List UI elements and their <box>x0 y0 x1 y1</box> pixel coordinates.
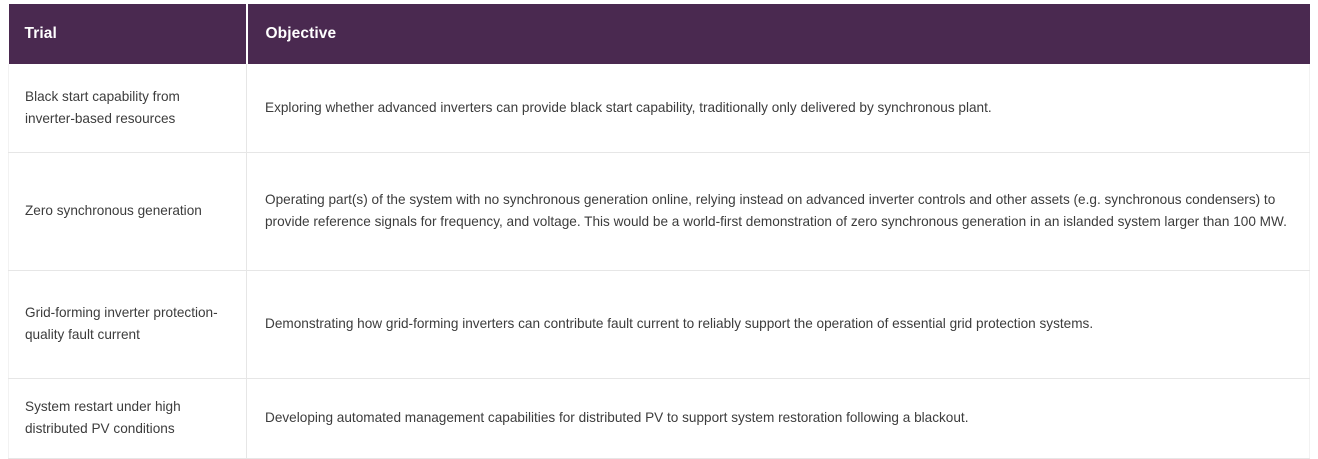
cell-objective: Exploring whether advanced inverters can… <box>247 64 1310 152</box>
trials-table: Trial Objective Black start capability f… <box>8 4 1310 459</box>
table-body: Black start capability from inverter-bas… <box>9 64 1310 458</box>
table-row: Grid-forming inverter protection-quality… <box>9 270 1310 378</box>
cell-objective: Operating part(s) of the system with no … <box>247 152 1310 270</box>
cell-trial: Grid-forming inverter protection-quality… <box>9 270 247 378</box>
cell-trial: Black start capability from inverter-bas… <box>9 64 247 152</box>
cell-trial: Zero synchronous generation <box>9 152 247 270</box>
table-header: Trial Objective <box>9 4 1310 64</box>
column-header-trial: Trial <box>9 4 247 64</box>
cell-objective: Demonstrating how grid-forming inverters… <box>247 270 1310 378</box>
table-row: Zero synchronous generation Operating pa… <box>9 152 1310 270</box>
cell-objective: Developing automated management capabili… <box>247 378 1310 458</box>
trials-table-container: Trial Objective Black start capability f… <box>0 0 1318 455</box>
table-header-row: Trial Objective <box>9 4 1310 64</box>
table-row: Black start capability from inverter-bas… <box>9 64 1310 152</box>
table-row: System restart under high distributed PV… <box>9 378 1310 458</box>
column-header-objective: Objective <box>247 4 1310 64</box>
cell-trial: System restart under high distributed PV… <box>9 378 247 458</box>
